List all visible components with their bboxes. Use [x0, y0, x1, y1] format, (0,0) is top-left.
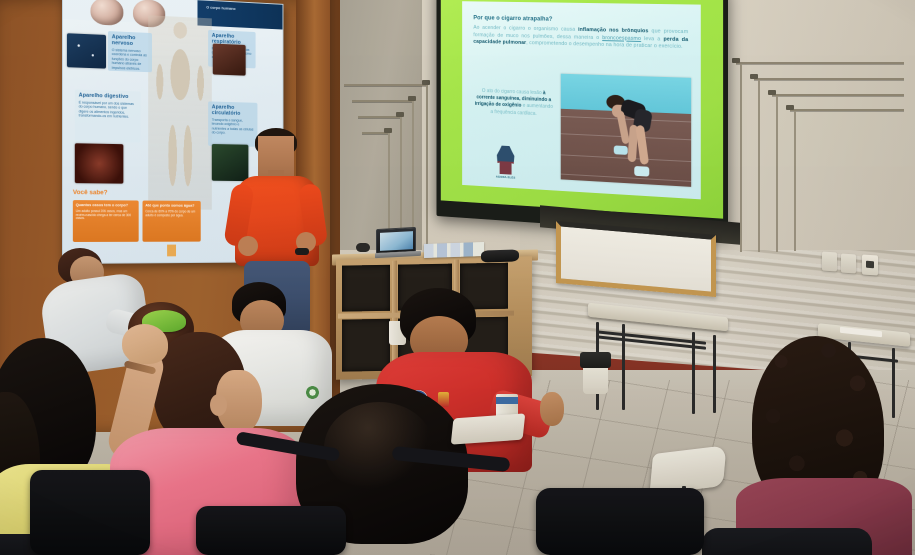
slide-run: leva a: [641, 36, 663, 42]
runner-figure: [601, 94, 655, 182]
slide-icon-caption: AGORA ELES: [488, 174, 523, 181]
poster-section-nervous: Aparelho nervoso O sistema nervoso coord…: [108, 31, 152, 72]
hanging-rails-right: [726, 56, 906, 256]
power-outlet[interactable]: [862, 254, 878, 275]
poster-fact-box-1: Quantos ossos tem o corpo? Um adulto pos…: [73, 200, 139, 242]
poster-photo-lungs: [213, 44, 246, 76]
hand: [540, 392, 564, 426]
poster-fact-heading: Até que ponto somos água?: [145, 204, 198, 209]
slide-run-underline: broncoespasmo: [602, 35, 641, 42]
person-woman-curly-right: [742, 336, 915, 555]
slide-secondary-block: O ato do cigarro causa lesão à corrente …: [473, 88, 554, 119]
classroom-photo: O corpo humano Aparelho nervoso O sistem…: [0, 0, 915, 555]
slide-title: Por que o cigarro atrapalha?: [473, 15, 688, 26]
poster-section-body: É responsável por um dos sistemas do cor…: [79, 100, 137, 119]
chair-foreground-left[interactable]: [30, 470, 150, 555]
poster-section-heading: Aparelho circulatório: [212, 104, 254, 117]
poster-fact-body: Cerca de 60% a 70% do corpo de um adulto…: [145, 210, 198, 218]
chair-foreground-mid[interactable]: [196, 506, 346, 555]
laptop-screen: [376, 227, 416, 254]
poster-fact-box-2: Até que ponto somos água? Cerca de 60% a…: [142, 201, 200, 242]
poster-fact-heading: Quantos ossos tem o corpo?: [76, 203, 136, 208]
black-case[interactable]: [481, 249, 519, 262]
tablet-arm-desk-in-use: [451, 413, 526, 444]
handout-stack[interactable]: [424, 242, 484, 258]
laptop-display: [380, 231, 413, 251]
poster-photo-stomach: [75, 143, 124, 183]
presenter-wristwatch: [295, 248, 309, 255]
slide-content: Por que o cigarro atrapalha? Ao acender …: [462, 1, 701, 199]
poster-section-body: O sistema nervoso coordena e controla as…: [112, 48, 148, 71]
slide-secondary-text: O ato do cigarro causa lesão à corrente …: [473, 88, 554, 119]
poster-section-heading: Aparelho nervoso: [112, 34, 148, 47]
poster-fact-body: Um adulto possui 206 ossos, mas um recém…: [76, 210, 136, 222]
chair-back: [702, 528, 872, 555]
projection-screen: Por que o cigarro atrapalha? Ao acender …: [437, 0, 728, 236]
brain-illustration-left: [90, 0, 123, 26]
mouse-or-adapter[interactable]: [356, 243, 370, 252]
ear: [210, 394, 227, 416]
trash-bin-lid: [580, 352, 611, 368]
slide-run-bold: inflamação nos brônquios: [578, 27, 648, 34]
outlet-socket: [866, 261, 874, 269]
light-switch-panel-2[interactable]: [841, 253, 856, 273]
slide-paragraph: Ao acender o cigarro o organismo causa i…: [473, 25, 688, 52]
laptop[interactable]: [376, 228, 420, 256]
poster-footer-logo: [167, 244, 223, 256]
poster-photo-neurons: [67, 33, 106, 68]
human-torso-icon: [497, 145, 515, 174]
slide-photo-runner: [561, 74, 691, 187]
poster-section-heading: Aparelho digestivo: [79, 93, 137, 101]
presenter-hand-left: [238, 236, 258, 256]
poster-section-digestive: Aparelho digestivo É responsável por um …: [75, 89, 141, 142]
poster-didyouknow-label: Você sabe?: [73, 189, 108, 196]
chair-foreground-right[interactable]: [536, 488, 704, 555]
human-body-illustration: [148, 15, 212, 209]
screen-surface: Por que o cigarro atrapalha? Ao acender …: [441, 0, 723, 219]
hand: [122, 324, 168, 364]
